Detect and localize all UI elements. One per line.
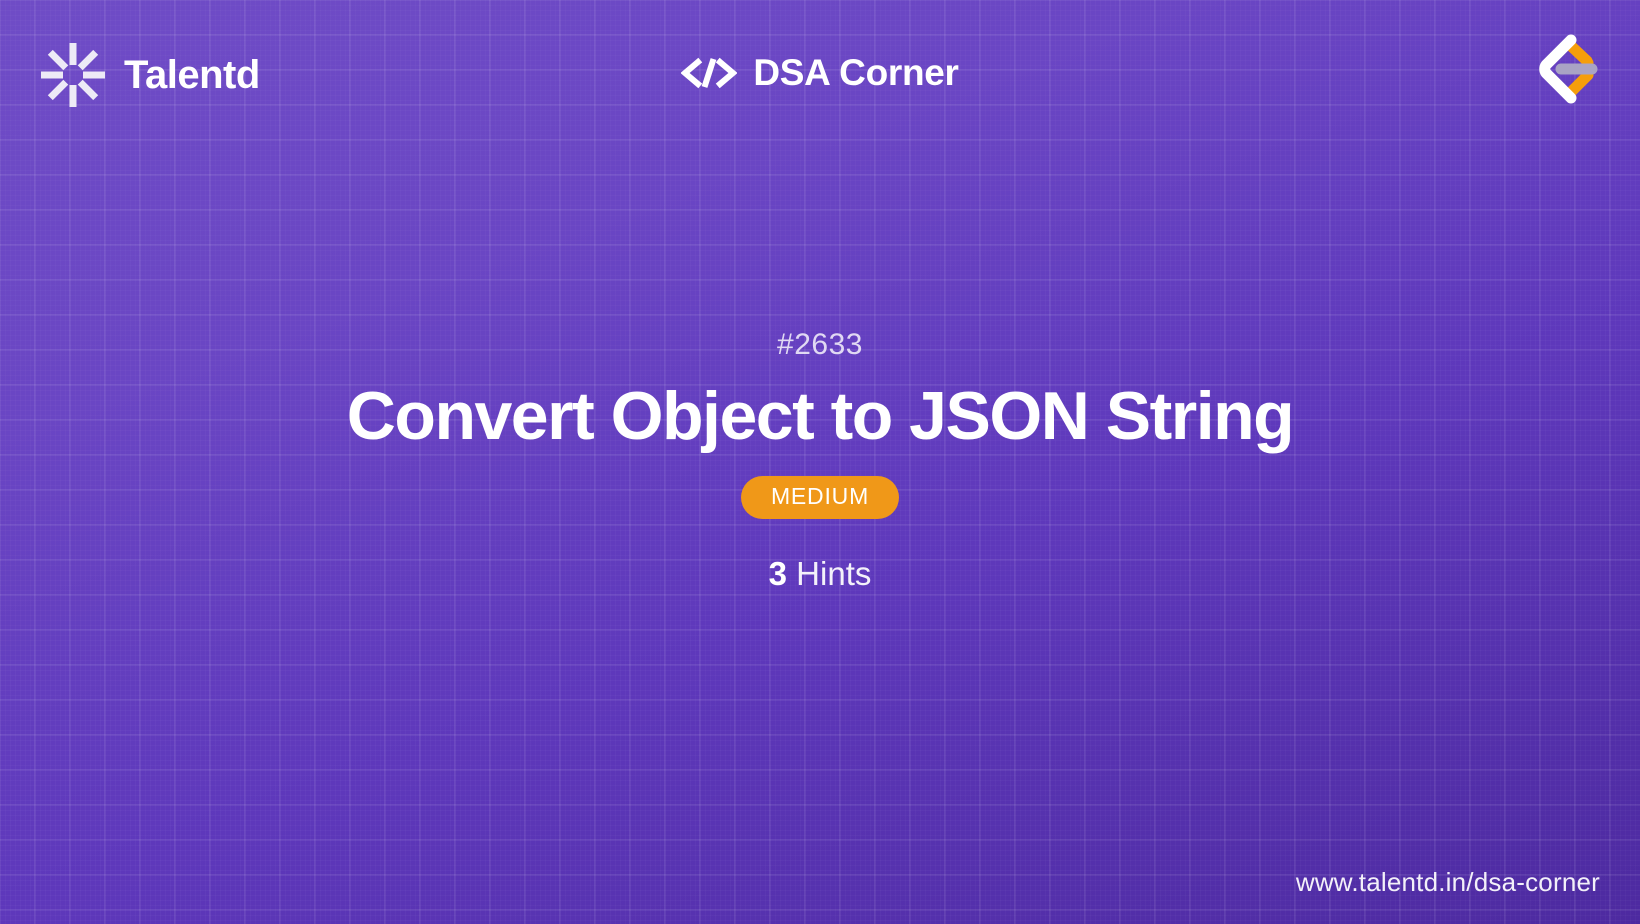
hints-label: Hints xyxy=(796,555,871,592)
footer: www.talentd.in/dsa-corner xyxy=(1296,869,1600,896)
problem-number: #2633 xyxy=(777,330,863,360)
leetcode-logo-icon xyxy=(1526,28,1604,110)
hints-line: 3 Hints xyxy=(769,557,872,590)
problem-block: #2633 Convert Object to JSON String MEDI… xyxy=(0,330,1640,590)
dsa-corner-card: Talentd DSA Corner #2633 Conve xyxy=(0,0,1640,924)
header-bar: Talentd DSA Corner xyxy=(0,0,1640,155)
section-title: DSA Corner xyxy=(753,54,958,91)
section-header: DSA Corner xyxy=(0,54,1640,91)
code-brackets-icon xyxy=(681,56,737,90)
hints-count: 3 xyxy=(769,555,787,592)
problem-title: Convert Object to JSON String xyxy=(347,380,1293,452)
footer-url[interactable]: www.talentd.in/dsa-corner xyxy=(1296,867,1600,897)
difficulty-badge: MEDIUM xyxy=(741,476,899,519)
